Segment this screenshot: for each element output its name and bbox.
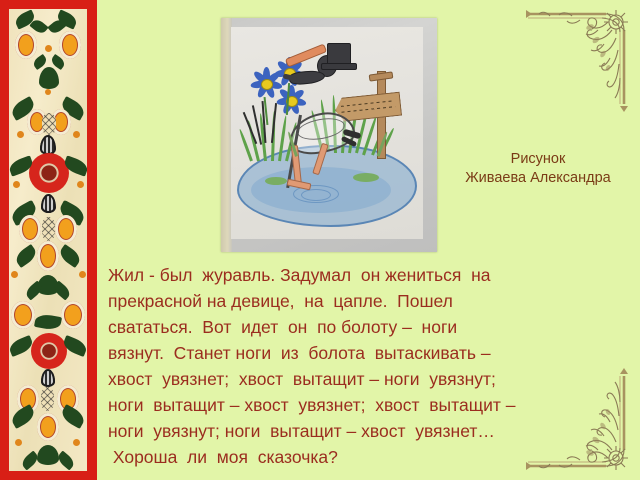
story-line: вязнут. Станет ноги из болота вытаскиват…: [108, 340, 628, 366]
seed-pod-icon: [41, 194, 56, 213]
story-line: ноги вытащит – хвост увязнет; хвост выта…: [108, 392, 628, 418]
leaf-icon: [56, 451, 77, 471]
sign-text-scribble: [341, 106, 395, 113]
dot-accent: [45, 45, 52, 52]
seed-pod-icon: [40, 135, 56, 155]
story-line: свататься. Вот идет он по болоту – ноги: [108, 314, 628, 340]
flower-bud-icon: [59, 31, 81, 59]
rosette-flower-icon: [31, 333, 67, 369]
photo-caption: Рисунок Живаева Александра: [443, 150, 633, 188]
mesh-texture: [41, 387, 54, 411]
story-line: прекрасной на девице, на цапле. Пошел: [108, 288, 628, 314]
blue-flower: [275, 85, 307, 117]
dot-accent: [73, 131, 80, 138]
leaf-icon: [57, 244, 83, 268]
story-text-block: Жил - был журавль. Задумал он жениться н…: [108, 262, 628, 470]
leaf-icon: [39, 67, 59, 89]
flower-bud-icon: [15, 31, 37, 59]
dot-accent: [17, 131, 24, 138]
leaf-icon: [52, 281, 73, 301]
dot-accent: [77, 181, 84, 188]
dot-accent: [13, 181, 20, 188]
slide-canvas: Рисунок Живаева Александра Жил - был жур…: [0, 0, 640, 480]
leaf-icon: [13, 244, 39, 268]
leaf-icon: [59, 404, 87, 429]
leaf-icon: [34, 313, 62, 331]
corner-flourish-top-right-icon: [520, 0, 640, 120]
rosette-flower-icon: [29, 153, 69, 193]
story-line: хвост увязнет; хвост вытащит – ноги увяз…: [108, 366, 628, 392]
flower-bud-icon: [37, 241, 59, 271]
dot-accent: [73, 439, 80, 446]
flower-bud-icon: [61, 301, 85, 329]
folk-ornament-border-strip: [0, 0, 97, 480]
sign-text-scribble: [341, 100, 395, 107]
dot-accent: [79, 271, 86, 278]
leaf-icon: [37, 445, 59, 465]
mesh-texture: [42, 113, 56, 135]
lily-pad: [353, 173, 379, 182]
seed-pod-icon: [41, 369, 55, 387]
flower-bud-icon: [55, 215, 77, 243]
lily-pad: [265, 177, 287, 185]
story-line: Хороша ли моя сказочка?: [108, 444, 628, 470]
mesh-texture: [42, 217, 55, 241]
caption-line-2: Живаева Александра: [443, 169, 633, 188]
caption-line-1: Рисунок: [443, 150, 633, 169]
story-line: ноги увязнут; ноги вытащит – хвост увязн…: [108, 418, 628, 444]
dot-accent: [11, 271, 18, 278]
student-drawing-photo: [221, 18, 437, 252]
drawing-paper: [231, 27, 423, 239]
story-line: Жил - был журавль. Задумал он жениться н…: [108, 262, 628, 288]
top-hat-brim: [321, 63, 357, 70]
flower-bud-icon: [37, 413, 59, 441]
flower-bud-icon: [19, 215, 41, 243]
ripple: [301, 189, 331, 201]
flower-bud-icon: [11, 301, 35, 329]
dot-accent: [45, 89, 51, 95]
dot-accent: [15, 439, 22, 446]
ornament-pattern: [9, 9, 87, 471]
